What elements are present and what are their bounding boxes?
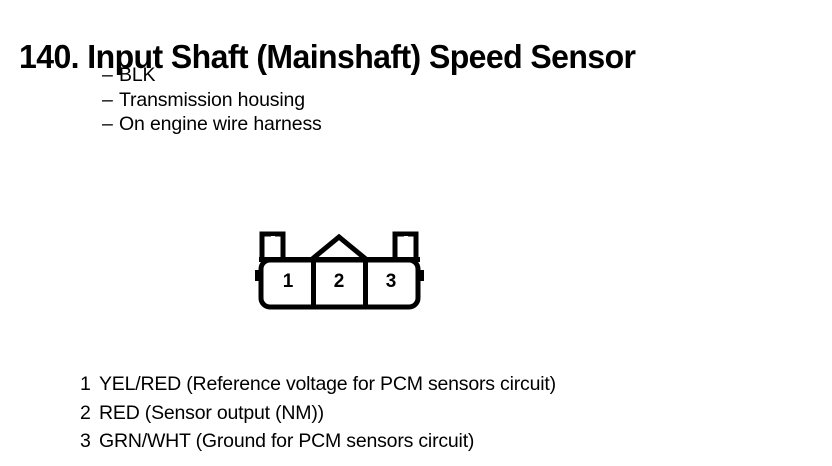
dash-bullet-icon: – xyxy=(102,88,119,113)
right-side-nub-icon xyxy=(416,270,424,281)
attribute-list: –BLK –Transmission housing –On engine wi… xyxy=(102,63,322,137)
pin-legend-row: 3GRN/WHT (Ground for PCM sensors circuit… xyxy=(80,427,556,456)
connector-diagram: 1 2 3 xyxy=(250,222,460,317)
list-item-label: Transmission housing xyxy=(119,89,305,111)
cavity-divider-2 xyxy=(363,260,368,307)
pin-legend-number: 1 xyxy=(80,370,99,399)
dash-bullet-icon: – xyxy=(102,112,119,137)
pin-legend-description: RED (Sensor output (NM)) xyxy=(99,402,324,424)
connector-illustration: 1 2 3 xyxy=(250,222,460,317)
list-item: –On engine wire harness xyxy=(102,112,322,137)
list-item: –Transmission housing xyxy=(102,88,322,113)
pin-legend-row: 1YEL/RED (Reference voltage for PCM sens… xyxy=(80,370,556,399)
left-side-nub-icon xyxy=(255,270,263,281)
pin-legend-row: 2RED (Sensor output (NM)) xyxy=(80,399,556,428)
latch-tab-icon xyxy=(311,237,367,260)
pin-legend-number: 2 xyxy=(80,399,99,428)
cavity-divider-1 xyxy=(311,260,316,307)
right-ear-slot-icon xyxy=(404,236,408,252)
pin-legend-number: 3 xyxy=(80,427,99,456)
list-item: –BLK xyxy=(102,63,322,88)
cavity-number-2: 2 xyxy=(334,271,345,292)
pin-legend-description: GRN/WHT (Ground for PCM sensors circuit) xyxy=(99,430,474,452)
list-item-label: On engine wire harness xyxy=(119,113,322,135)
pin-legend: 1YEL/RED (Reference voltage for PCM sens… xyxy=(80,370,556,456)
list-item-label: BLK xyxy=(119,64,155,86)
cavity-number-3: 3 xyxy=(386,271,397,292)
pin-legend-description: YEL/RED (Reference voltage for PCM senso… xyxy=(99,373,556,395)
document-page: 140. Input Shaft (Mainshaft) Speed Senso… xyxy=(0,0,832,466)
cavity-number-1: 1 xyxy=(283,271,294,292)
left-ear-slot-icon xyxy=(271,236,275,252)
dash-bullet-icon: – xyxy=(102,63,119,88)
